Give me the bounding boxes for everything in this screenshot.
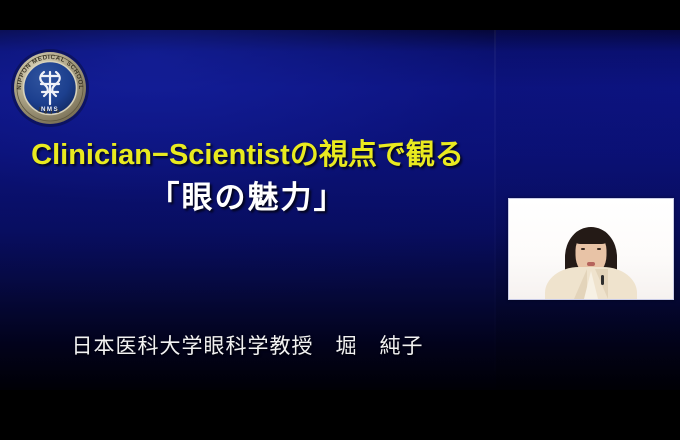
slide-title-block: Clinician−Scientistの視点で観る 「眼の魅力」 bbox=[0, 140, 495, 215]
letterbox-bar-bottom bbox=[0, 390, 680, 440]
speaker-right-eye bbox=[597, 248, 601, 250]
speaker-video-frame bbox=[509, 199, 673, 299]
presentation-slide: NIPPON MEDICAL SCHOOL 1876 NMS C bbox=[0, 30, 680, 390]
speaker-fringe bbox=[573, 229, 609, 244]
speaker-mouth bbox=[587, 262, 595, 266]
svg-text:NMS: NMS bbox=[41, 106, 59, 113]
speaker-left-eye bbox=[581, 248, 585, 250]
presenter-affiliation-and-name: 日本医科大学眼科学教授 堀 純子 bbox=[0, 330, 495, 360]
university-seal-logo: NIPPON MEDICAL SCHOOL 1876 NMS bbox=[8, 46, 92, 130]
video-player-screen: NIPPON MEDICAL SCHOOL 1876 NMS C bbox=[0, 0, 680, 440]
slide-title-line-1: Clinician−Scientistの視点で観る bbox=[0, 140, 495, 170]
speaker-jacket-left-lapel bbox=[574, 269, 587, 299]
slide-title-line-2: 「眼の魅力」 bbox=[0, 182, 495, 215]
speaker-lapel-microphone bbox=[601, 275, 604, 285]
speaker-video-inset[interactable] bbox=[508, 198, 674, 300]
letterbox-bar-top bbox=[0, 0, 680, 30]
